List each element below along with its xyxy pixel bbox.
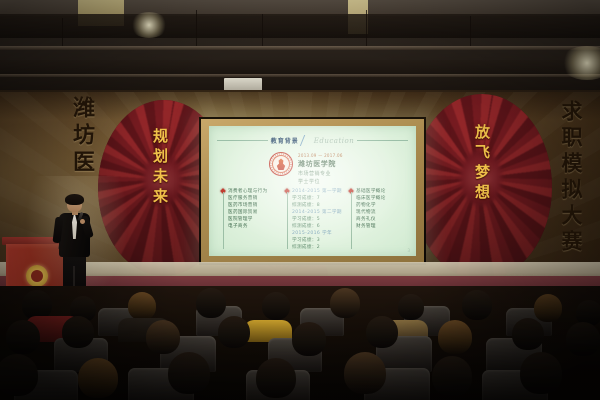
slide-major: 市场营销专业 bbox=[298, 170, 343, 177]
audience-head bbox=[366, 316, 398, 348]
slide-list-item: 综测成绩：8 bbox=[292, 202, 342, 209]
slide-column-marketing: 消费者心理与行为 医疗服务营销 医药市场营销 医药国际贸易 医院管理学 电子商务 bbox=[221, 188, 278, 251]
audience-head bbox=[62, 316, 94, 348]
backdrop-text-plan-future: 规划未来 bbox=[150, 128, 171, 208]
slide-list-item: 2015-2016 学年 bbox=[292, 230, 342, 237]
stage-light bbox=[236, 40, 249, 70]
slide-page-number: 3 bbox=[407, 248, 410, 253]
slide-list-item: 临床医学概论 bbox=[356, 195, 406, 202]
slide-list-item: 电子商务 bbox=[228, 223, 278, 230]
stage-light bbox=[290, 44, 303, 74]
audience-head bbox=[0, 354, 38, 396]
slide-date-range: 2013.09 — 2017.06 bbox=[298, 153, 343, 158]
slide-list-item: 2014-2015 第一学期 bbox=[292, 188, 342, 195]
slide-list-item: 学习成绩：7 bbox=[292, 195, 342, 202]
university-seal-icon bbox=[269, 152, 293, 176]
audience-head bbox=[292, 322, 326, 356]
slide-title-en: Education bbox=[314, 137, 354, 145]
stage-light bbox=[552, 42, 565, 72]
slide-list-item: 现代物流 bbox=[356, 209, 406, 216]
slide-list-item: 医疗服务营销 bbox=[228, 195, 278, 202]
audience-head bbox=[196, 288, 226, 318]
slide-list-item: 商务礼仪 bbox=[356, 216, 406, 223]
slide-column-medical: 基础医学概论 临床医学概论 药物化学 现代物流 商务礼仪 财务管理 bbox=[349, 188, 406, 251]
audience-head bbox=[438, 320, 472, 354]
presenter bbox=[54, 196, 94, 300]
slide-list-item: 基础医学概论 bbox=[356, 188, 406, 195]
slide-columns: 消费者心理与行为 医疗服务营销 医药市场营销 医药国际贸易 医院管理学 电子商务… bbox=[221, 188, 406, 251]
backdrop-text-fly-dreams: 放飞梦想 bbox=[472, 124, 493, 204]
slide-degree: 学士学位 bbox=[298, 178, 343, 185]
slide-list-item: 2014-2015 第二学期 bbox=[292, 209, 342, 216]
slash-divider-icon bbox=[300, 135, 313, 146]
audience-head bbox=[344, 352, 386, 394]
auditorium-scene: 潍坊医 规划未来 放飞梦想 求职模拟大赛 青春无悔 学有工作吧 奋斗无悔 心与理… bbox=[0, 0, 600, 400]
audience-head bbox=[566, 322, 600, 356]
stage-light bbox=[104, 46, 117, 76]
audience-head bbox=[330, 288, 360, 318]
stage-light bbox=[164, 42, 177, 72]
stage-light bbox=[480, 44, 493, 74]
audience-head bbox=[262, 292, 290, 320]
slide-list-item: 学习成绩：5 bbox=[292, 216, 342, 223]
stage-light bbox=[352, 42, 365, 72]
backdrop-text-competition: 求职模拟大赛 bbox=[556, 100, 586, 256]
slide-list-item: 药物化学 bbox=[356, 202, 406, 209]
slide-list-item: 综测成绩：6 bbox=[292, 223, 342, 230]
slide-header: 教育背景 Education bbox=[217, 135, 408, 146]
slide-list-item: 医药市场营销 bbox=[228, 202, 278, 209]
slide-list-item: 综测成绩：2 bbox=[292, 244, 342, 251]
audience-head bbox=[146, 320, 180, 354]
audience-head bbox=[512, 318, 544, 350]
audience-head bbox=[256, 358, 296, 398]
projection-screen: 教育背景 Education 2013.09 — 2017.06 潍坊医学院 市… bbox=[199, 117, 426, 265]
presentation-slide: 教育背景 Education 2013.09 — 2017.06 潍坊医学院 市… bbox=[209, 126, 416, 256]
slide-list-item: 医院管理学 bbox=[228, 216, 278, 223]
audience-head bbox=[168, 352, 210, 394]
slide-school-name: 潍坊医学院 bbox=[298, 159, 343, 169]
audience-head bbox=[462, 290, 492, 320]
slide-list-item: 学习成绩：3 bbox=[292, 237, 342, 244]
slide-identity-block: 2013.09 — 2017.06 潍坊医学院 市场营销专业 学士学位 bbox=[269, 152, 343, 185]
audience-head bbox=[6, 320, 40, 354]
audience-head bbox=[398, 294, 424, 320]
slide-list-item: 医药国际贸易 bbox=[228, 209, 278, 216]
stage-light bbox=[414, 44, 427, 74]
slide-column-academic-record: 2014-2015 第一学期 学习成绩：7 综测成绩：8 2014-2015 第… bbox=[285, 188, 342, 251]
audience-head bbox=[520, 352, 562, 394]
audience-head bbox=[78, 358, 118, 398]
slide-title-cn: 教育背景 bbox=[271, 136, 299, 145]
slide-list-item: 财务管理 bbox=[356, 223, 406, 230]
audience-head bbox=[432, 356, 472, 396]
slide-list-item: 消费者心理与行为 bbox=[228, 188, 278, 195]
audience-head bbox=[534, 294, 562, 322]
backdrop-text-left: 潍坊医 bbox=[66, 96, 98, 177]
institution-seal-icon bbox=[26, 265, 48, 287]
stage-light bbox=[34, 44, 47, 74]
ceiling bbox=[0, 0, 600, 96]
seated-audience bbox=[0, 286, 600, 400]
audience-head bbox=[218, 316, 250, 348]
audience-head bbox=[128, 292, 156, 320]
